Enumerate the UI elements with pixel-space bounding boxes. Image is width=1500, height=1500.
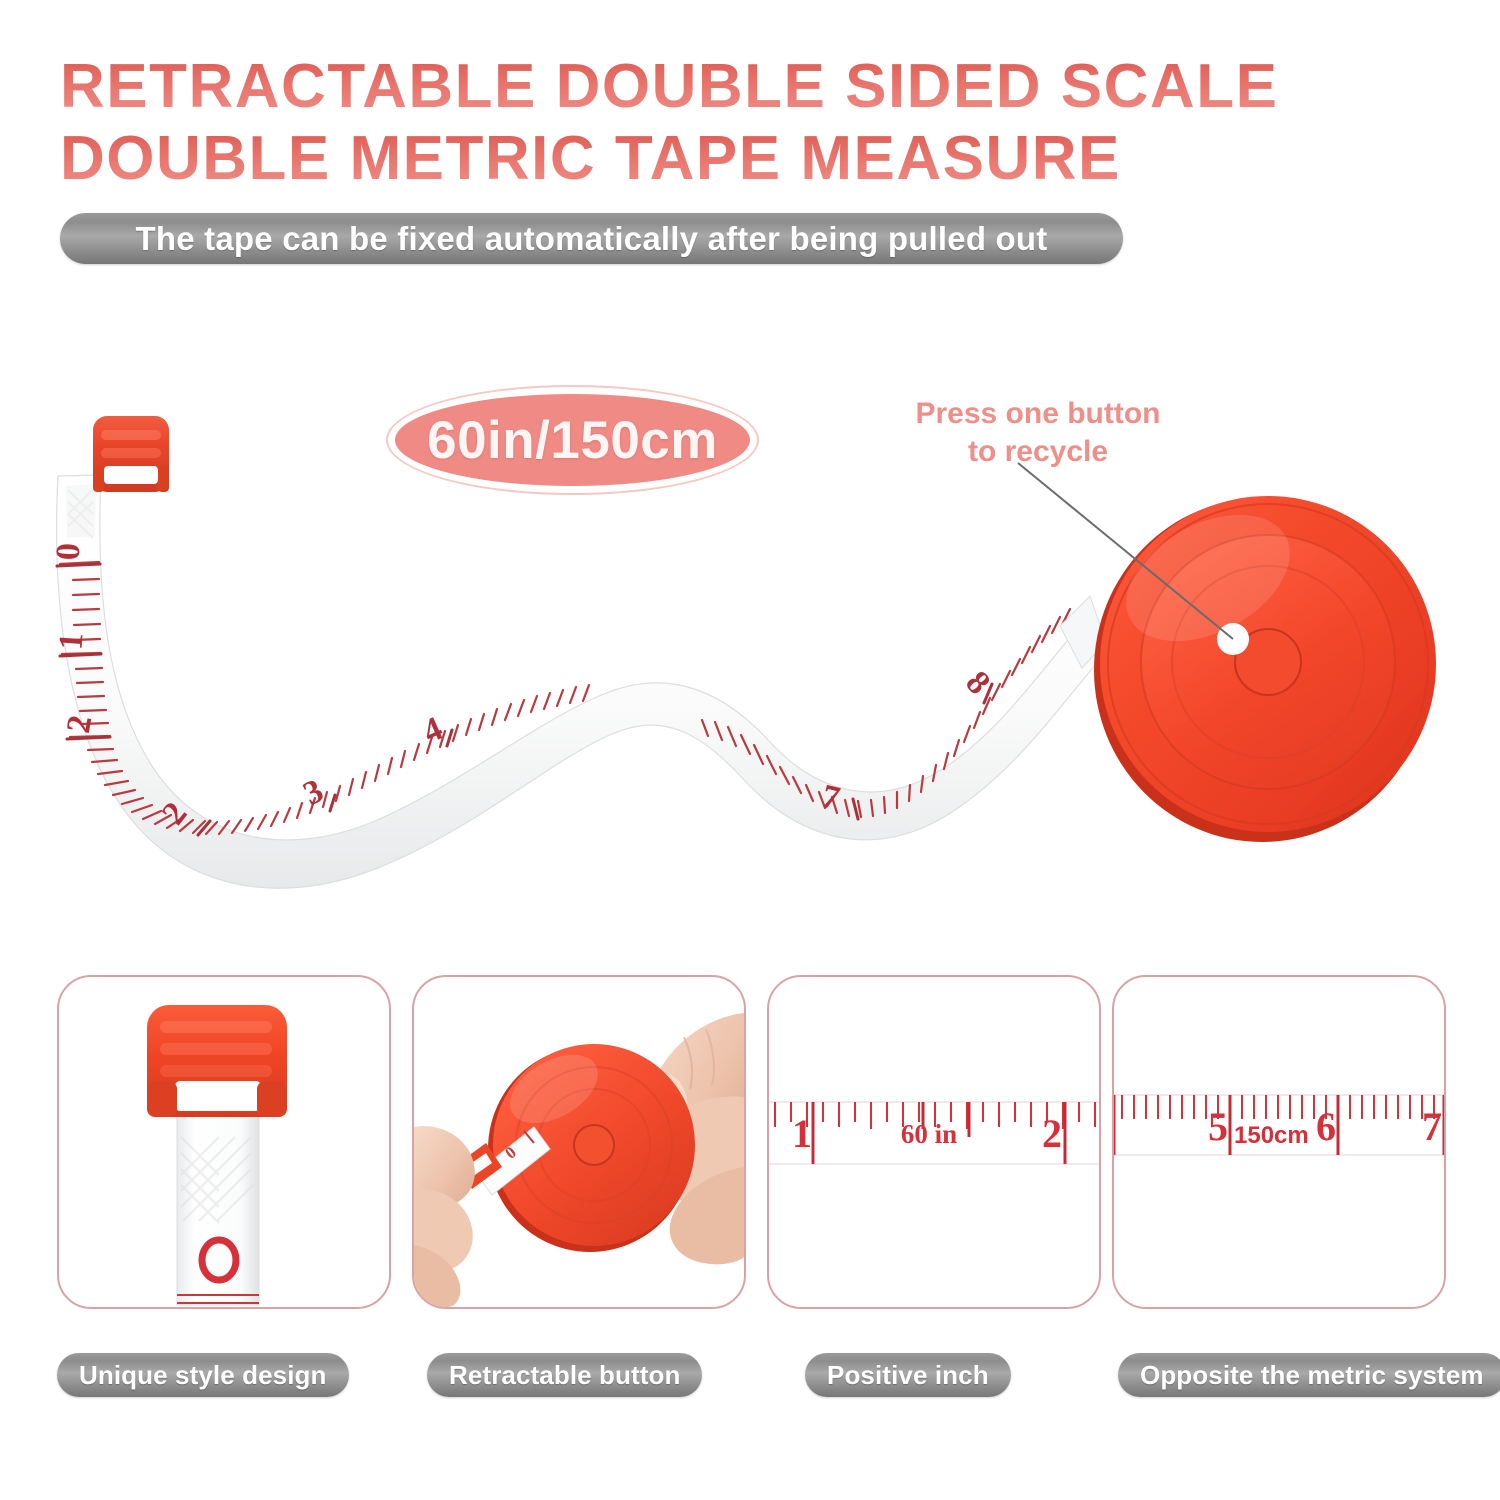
feature-thumbnail-grid: Unique style design — [0, 975, 1500, 1435]
retractable-button-illustration: 0 — [414, 977, 744, 1307]
thumbnail-caption-2: Retractable button — [427, 1353, 702, 1397]
thumbnail-caption-1: Unique style design — [57, 1353, 349, 1397]
recycle-callout-line-2: to recycle — [888, 433, 1188, 471]
recycle-callout-line-1: Press one button — [888, 395, 1188, 433]
tape-number-4: 4 — [417, 710, 448, 751]
thumbnail-frame-2: 0 — [412, 975, 746, 1309]
tape-number-0: 0 — [50, 542, 88, 560]
size-badge-label: 60in/150cm — [427, 410, 718, 471]
thumbnail-retractable-button[interactable]: 0 — [412, 975, 742, 1309]
metric-ruler-illustration: 5 6 7 150cm — [1114, 977, 1444, 1307]
tape-reel — [1060, 489, 1436, 842]
hero-product-illustration: 0 1 2 2 3 4 — [0, 290, 1500, 950]
thumbnail-caption-4: Opposite the metric system — [1118, 1353, 1500, 1397]
tape-number-3: 3 — [298, 772, 329, 813]
inch-label-1: 1 — [792, 1111, 812, 1156]
size-badge: 60in/150cm — [395, 394, 750, 486]
tape-number-1: 1 — [52, 631, 90, 651]
unique-style-design-illustration — [59, 977, 389, 1307]
metric-label-7: 7 — [1422, 1104, 1442, 1149]
thumbnail-frame-1 — [57, 975, 391, 1309]
page-title-line-1: RETRACTABLE DOUBLE SIDED SCALE — [60, 50, 1278, 124]
inch-unit-label: 60 in — [901, 1119, 957, 1149]
thumbnail-unique-style-design[interactable] — [57, 975, 387, 1309]
tape-grip-texture — [66, 484, 96, 538]
thumbnail-frame-3: 1 2 60 in — [767, 975, 1101, 1309]
tape-end-clip — [93, 416, 169, 492]
inch-label-2: 2 — [1042, 1111, 1062, 1156]
hand-pulling — [414, 1126, 475, 1307]
thumbnail-positive-inch[interactable]: 1 2 60 in — [767, 975, 1097, 1309]
recycle-callout: Press one button to recycle — [888, 395, 1188, 471]
page-title-line-2: DOUBLE METRIC TAPE MEASURE — [60, 122, 1121, 196]
metric-label-5: 5 — [1208, 1104, 1228, 1149]
thumbnail-caption-3: Positive inch — [805, 1353, 1011, 1397]
end-clip-closeup — [147, 1005, 287, 1117]
metric-unit-label: 150cm — [1234, 1122, 1309, 1149]
thumbnail-opposite-metric-system[interactable]: 5 6 7 150cm — [1112, 975, 1442, 1309]
inch-ruler-illustration: 1 2 60 in — [769, 977, 1099, 1307]
hero-illustration-svg: 0 1 2 2 3 4 — [0, 290, 1500, 950]
subtitle-pill: The tape can be fixed automatically afte… — [60, 213, 1123, 264]
metric-label-6: 6 — [1316, 1104, 1336, 1149]
thumbnail-frame-4: 5 6 7 150cm — [1112, 975, 1446, 1309]
